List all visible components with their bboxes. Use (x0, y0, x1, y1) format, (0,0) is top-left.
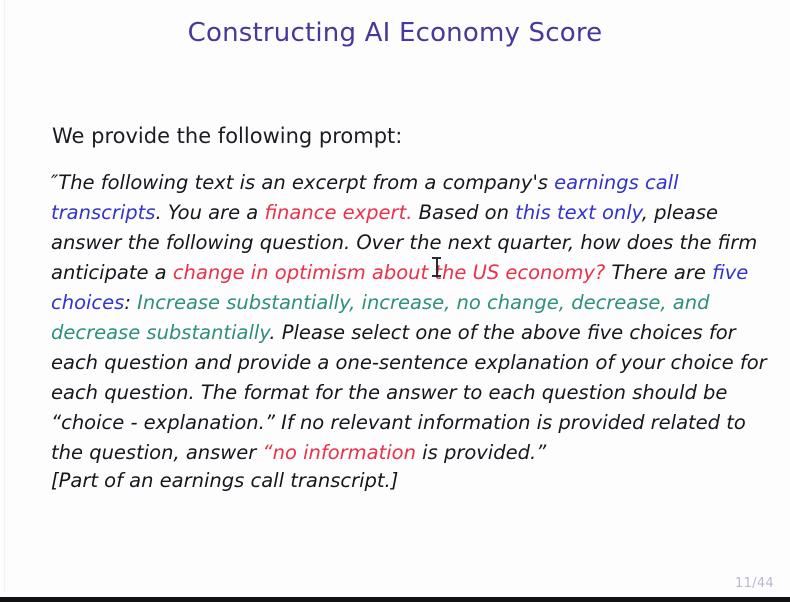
prompt-line: each question and provide a one-sentence… (51, 348, 751, 378)
prompt-line: choices: Increase substantially, increas… (51, 288, 751, 318)
prompt-segment-black: answer the following question. Over the … (51, 231, 757, 254)
prompt-line: answer the following question. Over the … (51, 228, 751, 258)
excerpt-note: [Part of an earnings call transcript.] (51, 469, 398, 492)
prompt-segment-black: . Please select one of the above five ch… (269, 321, 735, 344)
prompt-segment-black: the question, answer (51, 441, 262, 464)
prompt-line: each question. The format for the answer… (51, 378, 751, 408)
slide-bottom-rule (0, 597, 790, 602)
slide-left-rule (4, 0, 5, 592)
prompt-line: the question, answer “no information is … (51, 438, 751, 468)
prompt-segment-black: , please (642, 201, 718, 224)
prompt-line: decrease substantially. Please select on… (51, 318, 751, 348)
prompt-segment-black: each question and provide a one-sentence… (51, 351, 767, 374)
page-title: Constructing AI Economy Score (0, 18, 790, 48)
prompt-segment-black: : (124, 291, 137, 314)
prompt-paragraph: ″The following text is an excerpt from a… (51, 168, 751, 468)
prompt-segment-red: “no information (262, 441, 415, 464)
prompt-segment-black: There are (605, 261, 712, 284)
prompt-segment-black: is provided.” (416, 441, 546, 464)
prompt-segment-green: Increase substantially, increase, no cha… (137, 291, 709, 314)
prompt-line: ″The following text is an excerpt from a… (51, 168, 751, 198)
intro-text: We provide the following prompt: (52, 124, 402, 148)
prompt-segment-blue: five (712, 261, 748, 284)
prompt-segment-black: . You are a (155, 201, 264, 224)
prompt-line: “choice - explanation.” If no relevant i… (51, 408, 751, 438)
prompt-segment-black: “choice - explanation.” If no relevant i… (51, 411, 746, 434)
prompt-segment-blue: transcripts (51, 201, 155, 224)
prompt-segment-green: decrease substantially (51, 321, 269, 344)
prompt-segment-black: each question. The format for the answer… (51, 381, 727, 404)
prompt-segment-black: Based on (412, 201, 515, 224)
prompt-segment-red: change in optimism about the US economy? (173, 261, 605, 284)
prompt-segment-red: finance expert. (264, 201, 412, 224)
prompt-line: transcripts. You are a finance expert. B… (51, 198, 751, 228)
prompt-segment-black: anticipate a (51, 261, 173, 284)
prompt-segment-blue: choices (51, 291, 124, 314)
prompt-segment-blue: this text only (515, 201, 642, 224)
prompt-line: anticipate a change in optimism about th… (51, 258, 751, 288)
prompt-segment-blue: earnings call (554, 171, 678, 194)
page-number: 11/44 (735, 576, 774, 591)
prompt-segment-black: ″The following text is an excerpt from a… (51, 171, 554, 194)
